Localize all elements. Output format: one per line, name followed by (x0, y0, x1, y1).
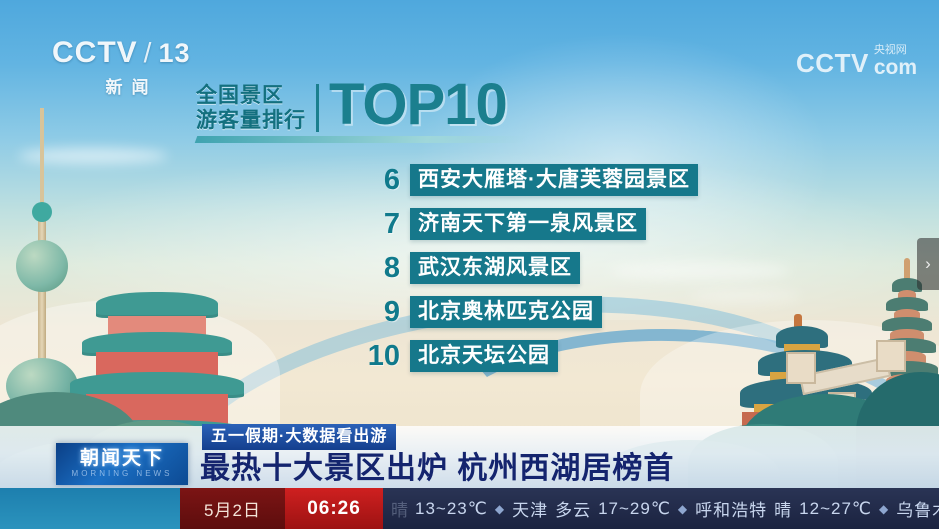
watermark-cn-text: 央视网 (874, 44, 907, 56)
graphic-title: 全国景区 游客量排行 TOP10 (196, 78, 507, 132)
cctv-com-watermark: CCTV 央视网 com (796, 40, 917, 79)
list-item: 9 北京奥林匹克公园 (356, 294, 776, 329)
ticker-city: 呼和浩特 (695, 496, 767, 521)
rank-number: 9 (356, 296, 410, 328)
great-wall-tower-1 (786, 352, 816, 384)
list-item: 6 西安大雁塔·大唐芙蓉园景区 (356, 162, 776, 197)
ticker-condition: 多云 (555, 496, 591, 521)
list-item: 7 济南天下第一泉风景区 (356, 206, 776, 241)
program-logo-en: MORNING NEWS (72, 469, 173, 479)
rank-number: 8 (356, 252, 410, 284)
rank-name: 北京奥林匹克公园 (410, 296, 602, 328)
graphic-title-line2: 游客量排行 (196, 109, 306, 132)
ticker-bullet: ◆ (879, 502, 889, 516)
graphic-title-line1: 全国景区 (196, 84, 306, 107)
ticker-leading-temp: 13~23℃ (415, 499, 488, 519)
channel-logo-name: CCTV (52, 36, 138, 70)
rank-name: 西安大雁塔·大唐芙蓉园景区 (410, 164, 698, 196)
ticker-date: 5月2日 (180, 488, 285, 529)
ranking-list: 6 西安大雁塔·大唐芙蓉园景区 7 济南天下第一泉风景区 8 武汉东湖风景区 9… (356, 162, 776, 382)
ticker-city: 天津 (512, 496, 548, 521)
title-underline-accent (195, 136, 528, 143)
rank-number: 7 (356, 208, 410, 240)
ticker-temp: 17~29℃ (598, 499, 671, 519)
ticker-partial-condition: 晴 (391, 496, 409, 521)
ticker-city: 乌鲁木齐 (896, 496, 939, 521)
rank-number: 10 (356, 340, 410, 372)
program-logo: 朝闻天下 MORNING NEWS (56, 443, 188, 485)
channel-logo-separator: / (144, 37, 153, 69)
rank-name: 北京天坛公园 (410, 340, 558, 372)
ticker-bullet: ◆ (495, 502, 505, 516)
ticker-condition: 晴 (774, 496, 792, 521)
channel-logo: CCTV / 13 新闻 (52, 36, 202, 98)
next-arrow-icon[interactable]: › (917, 238, 939, 290)
ticker-weather-strip: 晴 13~23℃ ◆ 天津 多云 17~29℃ ◆ 呼和浩特 晴 12~27℃ … (383, 488, 939, 529)
headline-text: 最热十大景区出炉 杭州西湖居榜首 (200, 451, 674, 487)
ticker-temp: 12~27℃ (799, 499, 872, 519)
program-logo-cn: 朝闻天下 (80, 449, 164, 469)
rank-name: 武汉东湖风景区 (410, 252, 580, 284)
watermark-cctv-text: CCTV (796, 48, 869, 79)
list-item: 10 北京天坛公园 (356, 338, 776, 373)
ticker-time: 06:26 (285, 488, 383, 529)
broadcast-screen: CCTV / 13 新闻 CCTV 央视网 com 全国景区 游客量排行 TOP… (0, 0, 939, 529)
list-item: 8 武汉东湖风景区 (356, 250, 776, 285)
rank-number: 6 (356, 164, 410, 196)
ticker-left-decor (0, 488, 180, 529)
watermark-domain-text: com (874, 56, 917, 79)
channel-logo-number: 13 (158, 38, 190, 69)
rank-name: 济南天下第一泉风景区 (410, 208, 646, 240)
channel-logo-subtitle: 新闻 (52, 73, 202, 98)
ticker-bullet: ◆ (678, 502, 688, 516)
graphic-title-top10: TOP10 (329, 78, 507, 132)
graphic-title-chinese: 全国景区 游客量排行 (196, 84, 319, 132)
kicker-banner: 五一假期·大数据看出游 (202, 424, 396, 450)
great-wall-tower-2 (876, 340, 906, 372)
news-ticker: 5月2日 06:26 晴 13~23℃ ◆ 天津 多云 17~29℃ ◆ 呼和浩… (0, 488, 939, 529)
